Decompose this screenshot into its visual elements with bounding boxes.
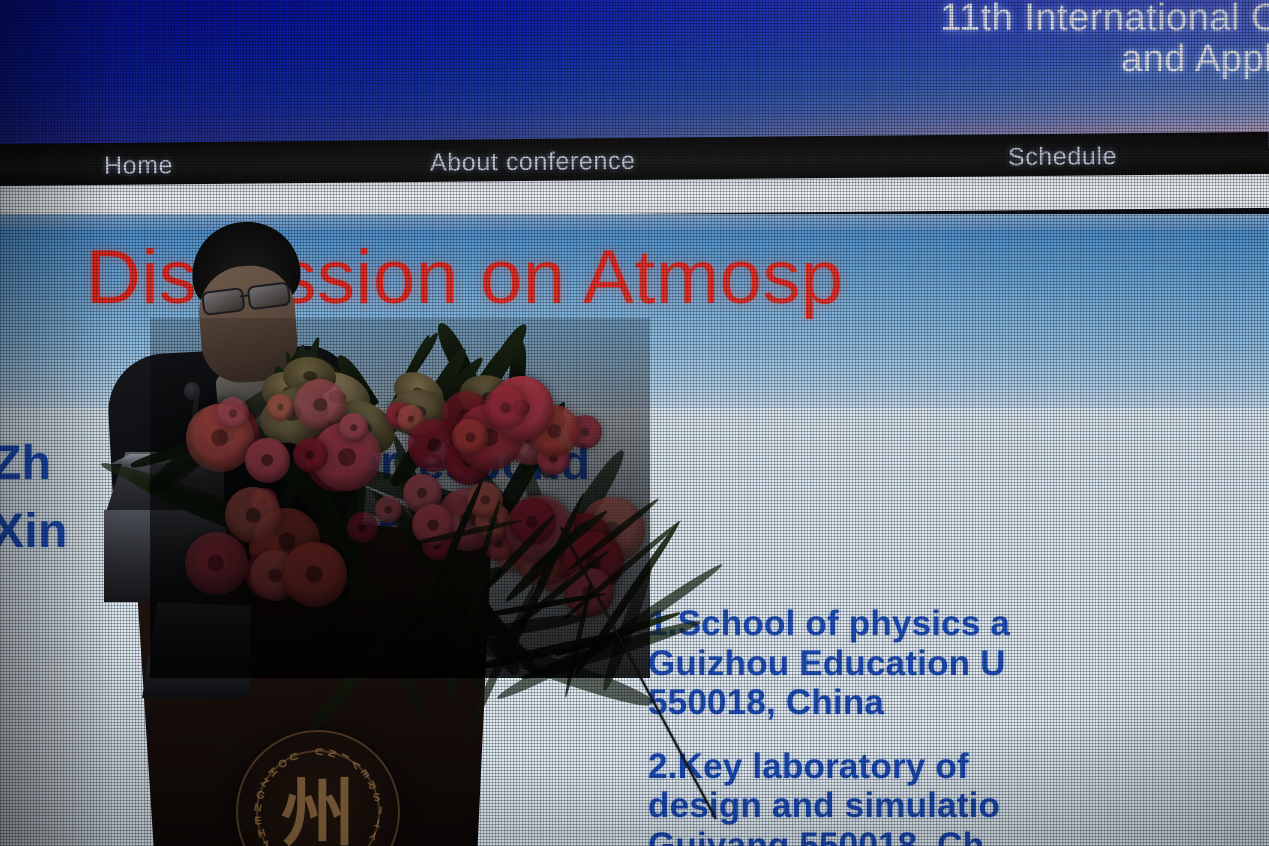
affiliation-1-line-2: Guizhou Education U xyxy=(648,644,1010,684)
affiliation-2-line-2: design and simulatio xyxy=(648,786,1010,826)
author-2-name: Xin xyxy=(0,505,68,558)
nav-item-schedule[interactable]: Schedule xyxy=(1008,142,1117,172)
slide-authors: Zh 1,2, [ correspond Xin 1,2) Gaofu Liu1… xyxy=(0,430,1261,566)
author-line-2: Xin 1,2) Gaofu Liu1) a xyxy=(0,498,1261,566)
nav-item-about-conference[interactable]: About conference xyxy=(430,147,636,178)
affiliation-1: 1.School of physics a Guizhou Education … xyxy=(648,604,1010,723)
author-1-name: Zh xyxy=(0,437,51,490)
affiliation-2: 2.Key laboratory of design and simulatio… xyxy=(648,747,1010,846)
author-line-1: Zh 1,2, [ correspond xyxy=(0,430,1261,498)
led-screen: 11th International C and Appl Home About… xyxy=(0,0,1269,846)
author-1-tail: , [ correspond xyxy=(266,437,590,490)
author-2-sup2: 1 xyxy=(512,506,527,536)
affiliation-2-line-1: 2.Key laboratory of xyxy=(648,747,1010,787)
author-2-tail: ) Gaofu Liu xyxy=(255,505,512,558)
screenshot-root: 11th International C and Appl Home About… xyxy=(0,0,1269,846)
banner-title-line2: and Appl xyxy=(379,39,1269,80)
banner-title: 11th International C and Appl xyxy=(379,0,1269,80)
affiliation-2-line-3: Guiyang 550018, Ch xyxy=(648,826,1010,846)
slide-title: Discussion on Atmosp xyxy=(86,234,844,321)
nav-item-home[interactable]: Home xyxy=(104,151,173,181)
banner-title-line1: 11th International C xyxy=(379,0,1269,39)
affiliation-1-line-1: 1.School of physics a xyxy=(648,604,1010,644)
author-1-sup: 1,2 xyxy=(229,438,267,468)
affiliation-1-line-3: 550018, China xyxy=(648,683,1010,723)
author-2-sup: 1,2 xyxy=(218,506,256,536)
slide-affiliations: 1.School of physics a Guizhou Education … xyxy=(648,604,1010,846)
author-2-tail2: ) a xyxy=(527,505,584,558)
conference-banner: 11th International C and Appl xyxy=(0,0,1269,148)
